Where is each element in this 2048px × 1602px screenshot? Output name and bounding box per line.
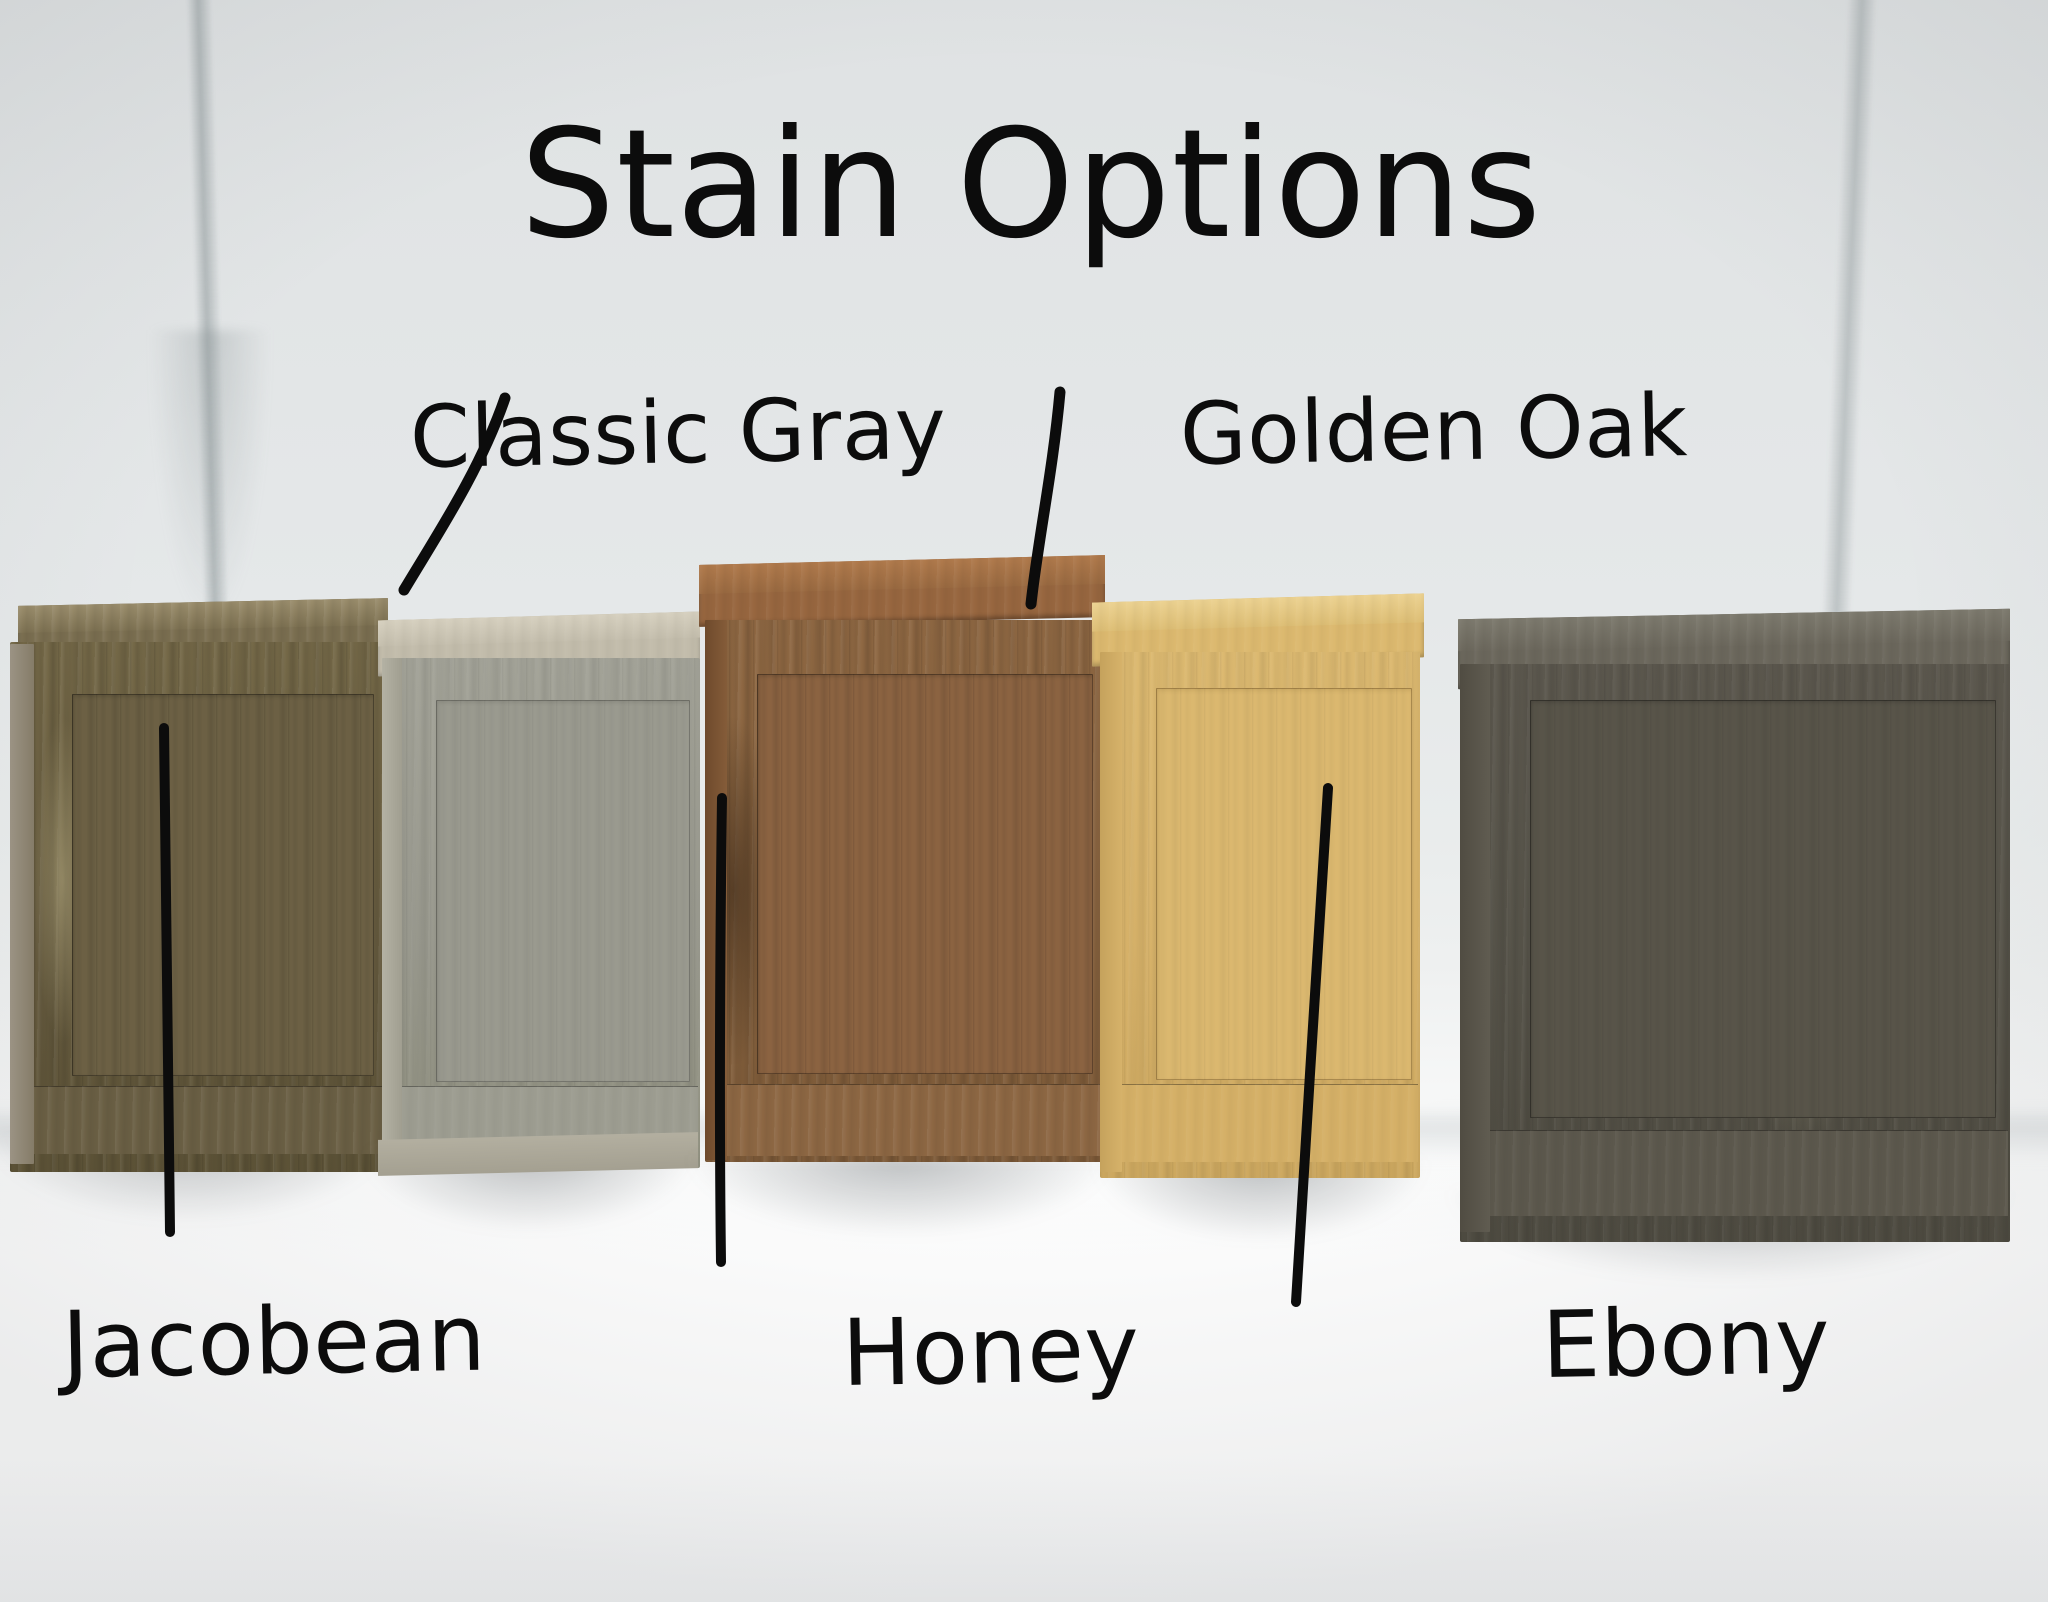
page-title: Stain Options [520,110,1542,260]
honey-inset-panel [757,674,1093,1074]
label-ebony: Ebony [1541,1295,1831,1392]
stain-options-photo: Stain Options Classic Gray Golden Oak Ja… [0,0,2048,1602]
honey-top-cap [699,555,1105,627]
ebony-bottom-rail [1462,1130,2008,1216]
classic-gray-left-edge [382,658,402,1158]
jacobean-bottom-rail [14,1086,386,1154]
sample-block-classic-gray[interactable] [382,628,700,1168]
label-golden-oak: Golden Oak [1179,383,1688,478]
classic-gray-inset-panel [436,700,690,1082]
sample-block-golden-oak[interactable] [1100,618,1420,1178]
golden-oak-bottom-rail [1102,1084,1418,1162]
jacobean-inset-panel [72,694,374,1076]
golden-oak-left-edge [1100,652,1122,1172]
sample-block-ebony[interactable] [1460,622,2010,1242]
honey-left-edge [705,620,727,1160]
label-jacobean: Jacobean [61,1293,487,1392]
jacobean-left-edge [10,644,34,1164]
ebony-inset-panel [1530,700,1996,1118]
golden-oak-inset-panel [1156,688,1412,1080]
label-classic-gray: Classic Gray [409,386,947,481]
honey-shadow [690,1155,1110,1235]
sample-block-honey[interactable] [705,602,1105,1162]
honey-bottom-rail [707,1084,1103,1156]
label-honey: Honey [841,1303,1140,1400]
sample-block-jacobean[interactable] [10,612,388,1172]
ebony-left-edge [1460,664,1490,1232]
